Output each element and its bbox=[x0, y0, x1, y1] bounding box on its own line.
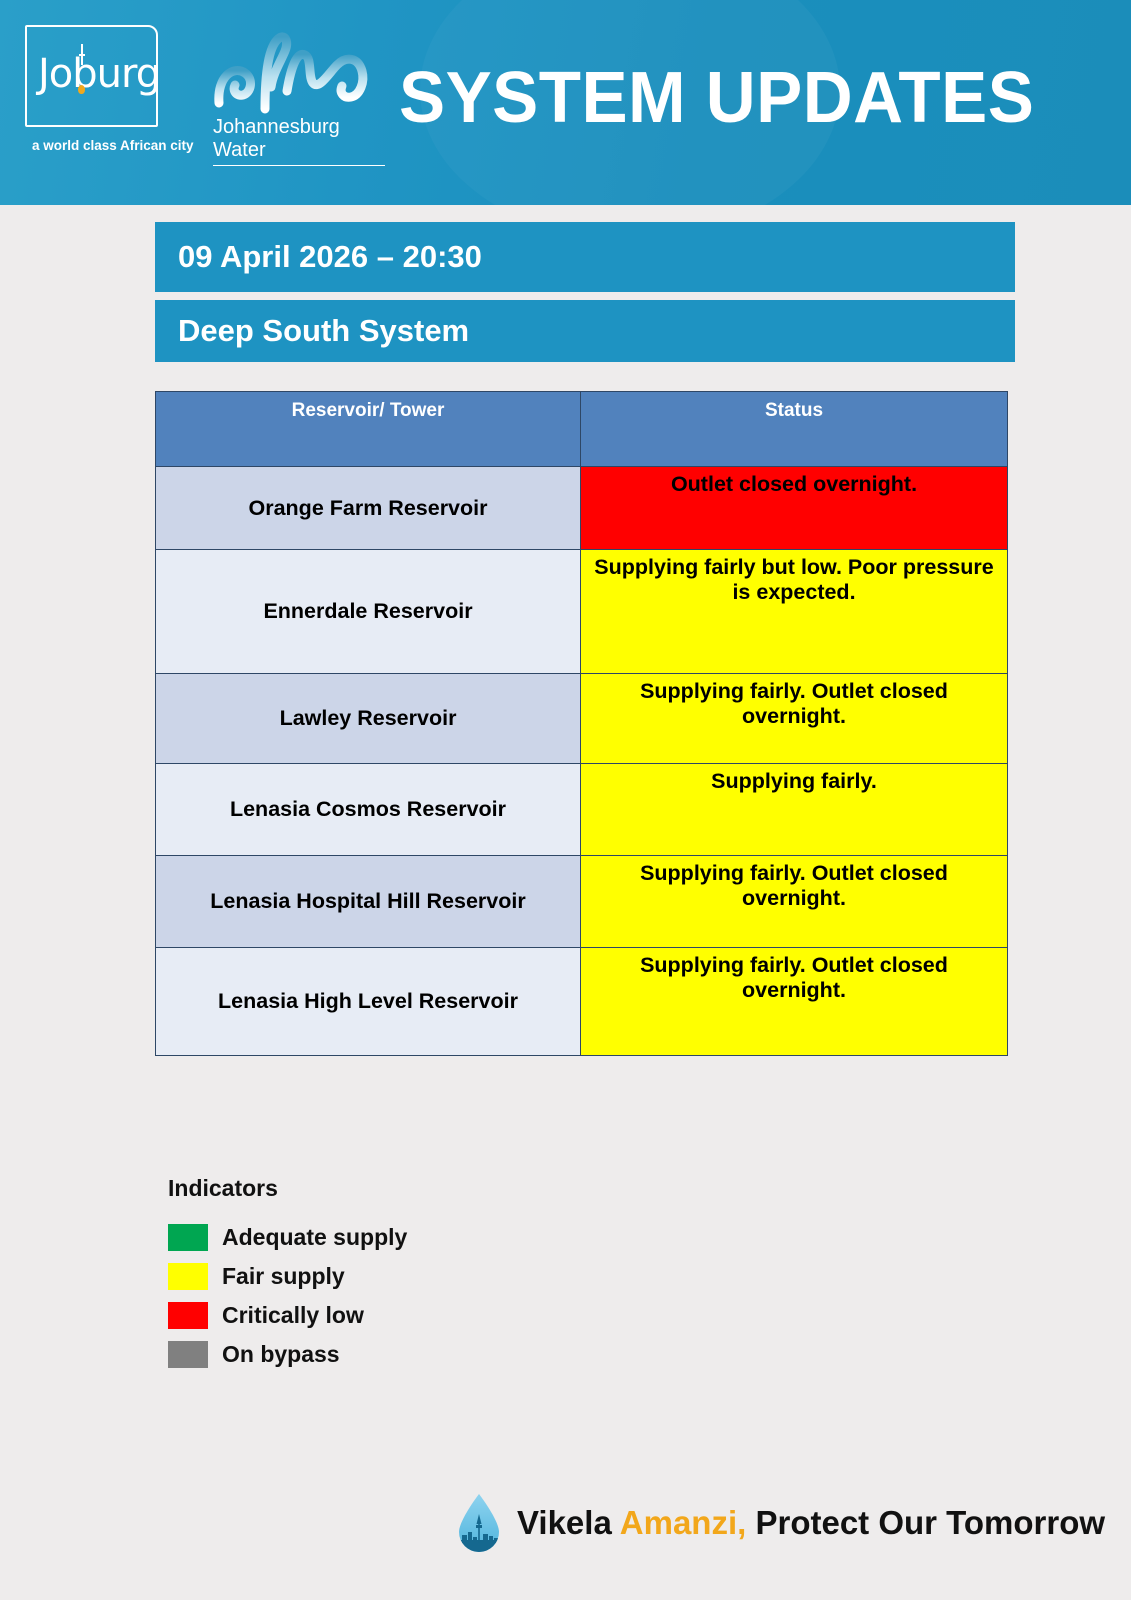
page-header: Joburg a world class African city bbox=[0, 0, 1131, 205]
page-title: SYSTEM UPDATES bbox=[399, 57, 1034, 139]
reservoir-name: Lawley Reservoir bbox=[156, 674, 581, 764]
status-cell: Supplying fairly. Outlet closed overnigh… bbox=[581, 948, 1008, 1056]
system-updates-poster: Joburg a world class African city bbox=[0, 0, 1131, 1600]
legend-swatch-bypass bbox=[168, 1341, 208, 1368]
johannesburg-water-logo: Johannesburg Water bbox=[213, 25, 385, 166]
water-drop-city-icon bbox=[455, 1492, 503, 1554]
legend-label: Adequate supply bbox=[222, 1224, 407, 1251]
column-header-reservoir: Reservoir/ Tower bbox=[156, 392, 581, 467]
reservoir-name: Lenasia Hospital Hill Reservoir bbox=[156, 856, 581, 948]
legend-label: On bypass bbox=[222, 1341, 340, 1368]
reservoir-name: Lenasia Cosmos Reservoir bbox=[156, 764, 581, 856]
legend-item: Fair supply bbox=[168, 1257, 598, 1296]
table-row: Orange Farm Reservoir Outlet closed over… bbox=[156, 467, 1008, 550]
footer-slogan: Vikela Amanzi, Protect Our Tomorrow bbox=[517, 1504, 1105, 1542]
water-wave-icon bbox=[213, 25, 378, 120]
date-bar: 09 April 2026 – 20:30 bbox=[155, 222, 1015, 292]
system-name-text: Deep South System bbox=[178, 313, 469, 349]
legend-swatch-fair bbox=[168, 1263, 208, 1290]
column-header-status: Status bbox=[581, 392, 1008, 467]
slogan-highlight: Amanzi, bbox=[620, 1504, 747, 1541]
status-cell: Supplying fairly. bbox=[581, 764, 1008, 856]
slogan-part-2: Protect Our Tomorrow bbox=[746, 1504, 1105, 1541]
status-cell: Outlet closed overnight. bbox=[581, 467, 1008, 550]
reservoir-name: Ennerdale Reservoir bbox=[156, 550, 581, 674]
table-row: Lenasia Hospital Hill Reservoir Supplyin… bbox=[156, 856, 1008, 948]
legend-item: On bypass bbox=[168, 1335, 598, 1374]
joburg-dot-icon bbox=[78, 85, 85, 94]
table-row: Lenasia High Level Reservoir Supplying f… bbox=[156, 948, 1008, 1056]
joburg-wordmark: Joburg bbox=[38, 54, 160, 94]
johannesburg-water-wordmark: Johannesburg Water bbox=[213, 116, 385, 166]
status-cell: Supplying fairly. Outlet closed overnigh… bbox=[581, 674, 1008, 764]
legend-item: Adequate supply bbox=[168, 1218, 598, 1257]
legend-swatch-critical bbox=[168, 1302, 208, 1329]
reservoir-name: Orange Farm Reservoir bbox=[156, 467, 581, 550]
slogan-part-1: Vikela bbox=[517, 1504, 620, 1541]
system-name-bar: Deep South System bbox=[155, 300, 1015, 362]
indicators-title: Indicators bbox=[168, 1175, 598, 1202]
table-row: Ennerdale Reservoir Supplying fairly but… bbox=[156, 550, 1008, 674]
status-cell: Supplying fairly. Outlet closed overnigh… bbox=[581, 856, 1008, 948]
joburg-logo-frame: Joburg bbox=[25, 25, 158, 127]
date-bar-text: 09 April 2026 – 20:30 bbox=[178, 239, 482, 275]
logo-group: Joburg a world class African city bbox=[25, 25, 385, 166]
table-row: Lawley Reservoir Supplying fairly. Outle… bbox=[156, 674, 1008, 764]
status-cell: Supplying fairly but low. Poor pressure … bbox=[581, 550, 1008, 674]
table-row: Lenasia Cosmos Reservoir Supplying fairl… bbox=[156, 764, 1008, 856]
legend-item: Critically low bbox=[168, 1296, 598, 1335]
reservoir-name: Lenasia High Level Reservoir bbox=[156, 948, 581, 1056]
legend-swatch-adequate bbox=[168, 1224, 208, 1251]
joburg-tagline: a world class African city bbox=[32, 138, 194, 153]
table-header-row: Reservoir/ Tower Status bbox=[156, 392, 1008, 467]
joburg-logo: Joburg a world class African city bbox=[25, 25, 175, 127]
reservoir-status-table: Reservoir/ Tower Status Orange Farm Rese… bbox=[155, 391, 1008, 1056]
legend-label: Critically low bbox=[222, 1302, 364, 1329]
legend-label: Fair supply bbox=[222, 1263, 345, 1290]
indicators-legend: Indicators Adequate supply Fair supply C… bbox=[168, 1175, 598, 1374]
footer: Vikela Amanzi, Protect Our Tomorrow bbox=[455, 1492, 1105, 1554]
